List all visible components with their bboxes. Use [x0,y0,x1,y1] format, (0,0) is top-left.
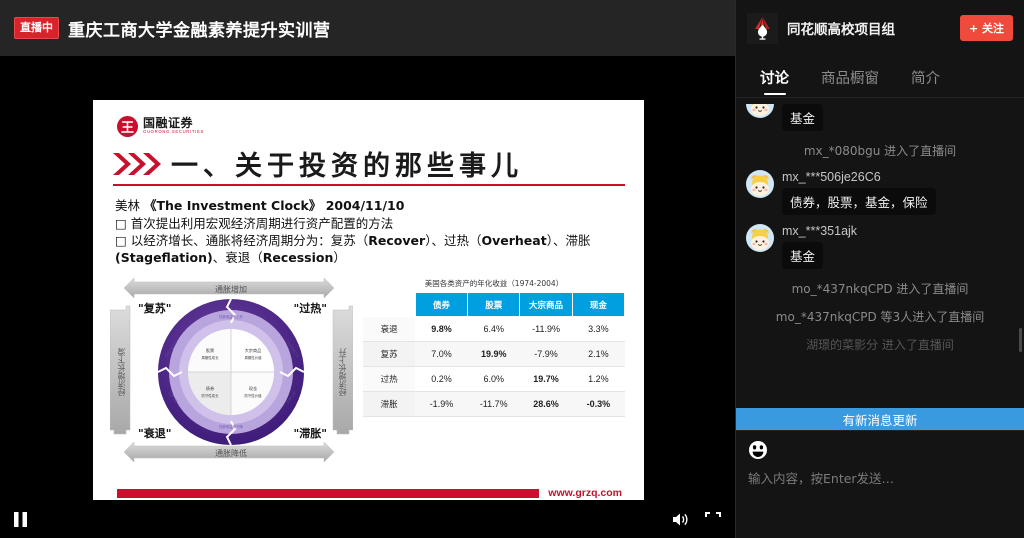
slide-line3-a: □ 以经济增长、通胀将经济周期分为：复苏（ [115,233,368,248]
chat-message: mx_***506je26C6债券，股票，基金，保险 [746,170,1014,215]
live-header: 直播中 重庆工商大学金融素养提升实训营 [0,0,735,56]
avatar[interactable] [746,104,774,118]
slide-line3-c: ）、过热（ [425,233,481,248]
table-row: 过热0.2%6.0%19.7%1.2% [363,367,625,392]
tab-2[interactable]: 简介 [895,67,956,97]
live-stream-page: 直播中 重庆工商大学金融素养提升实训营 王 国融证券 GUORONG SECUR… [0,0,1024,538]
emoji-smile-icon[interactable] [748,440,768,460]
chat-message-nickname: mx_***506je26C6 [782,170,936,184]
chat-panel: 同花顺高校项目组 + 关注 讨论商品橱窗简介 基金mx_*080bgu 进入了直… [735,0,1024,538]
svg-text:债券: 债券 [206,385,215,392]
table-row-label: 衰退 [363,317,415,342]
presentation-slide: 王 国融证券 GUORONG SECURITIES 一、关于投资 [93,100,644,513]
table-row: 滞胀-1.9%-11.7%28.6%-0.3% [363,392,625,417]
slide-line3-recover: Recover [368,233,425,248]
slide-brand-name-cn: 国融证券 [143,118,204,129]
clock-quadrant-recession: "衰退" [138,425,171,441]
th-cash: 现金 [572,293,624,317]
clock-label-growth-down: 经济增长下滑 [111,299,131,445]
svg-text:防守性价值: 防守性价值 [245,393,263,398]
svg-text:大宗商品: 大宗商品 [245,347,262,354]
svg-text:现金: 现金 [249,385,258,392]
chat-message-body: mx_***506je26C6债券，股票，基金，保险 [782,170,936,215]
chat-message-list[interactable]: 基金mx_*080bgu 进入了直播间mx_***506je26C6债券，股票，… [736,98,1024,430]
slide-line-1: 美林 《The Investment Clock》 2004/11/10 [115,197,625,215]
clock-label-inflation-down: 通胀降低 [131,443,331,464]
investment-clock-figure: 债券收益率上升 债券收益率下降 商品价格下跌 商品价格上涨 利率下调 利率上调 … [110,278,353,465]
pause-icon[interactable] [14,512,27,527]
chat-message-nickname: mx_***351ajk [782,224,857,238]
chat-tabs: 讨论商品橱窗简介 [736,56,1024,98]
chat-message-bubble: 基金 [782,242,823,269]
clock-left-text: 经济增长下滑 [116,348,127,396]
slide-line4-c: 、衰退（ [213,250,263,265]
video-panel: 直播中 重庆工商大学金融素养提升实训营 王 国融证券 GUORONG SECUR… [0,0,735,538]
slide-title-row: 一、关于投资的那些事儿 [111,144,523,183]
slide-line3-overheat: Overheat [481,233,546,248]
chat-message-body: 基金 [782,104,823,131]
live-room-title: 重庆工商大学金融素养提升实训营 [68,16,331,41]
svg-text:债券收益率上升: 债券收益率上升 [219,314,243,319]
slide-line-2: □ 首次提出利用宏观经济周期进行资产配置的方法 [115,215,625,233]
table-cell: 3.3% [572,317,624,342]
clock-right-text: 经济增长上升 [337,348,348,396]
asset-table-body: 衰退9.8%6.4%-11.9%3.3%复苏7.0%19.9%-7.9%2.1%… [363,317,625,417]
table-cell: 19.9% [468,342,520,367]
table-row-label: 滞胀 [363,392,415,417]
table-header-row: 债券 股票 大宗商品 现金 [363,293,625,317]
table-row: 复苏7.0%19.9%-7.9%2.1% [363,342,625,367]
system-join-message: mx_*080bgu 进入了直播间 [746,142,1014,159]
table-cell: 2.1% [572,342,624,367]
volume-icon[interactable] [672,512,689,527]
table-cell: -0.3% [572,392,624,417]
table-cell: 0.2% [415,367,467,392]
table-cell: -11.9% [520,317,572,342]
slide-footer: www.grzq.com [117,487,622,499]
asset-returns-table-wrap: 美国各类资产的年化收益（1974-2004） 债券 股票 大宗商品 现金 衰退9 [363,278,625,417]
svg-text:债券收益率下降: 债券收益率下降 [219,424,243,429]
slide-line4-a: 滞胀 [565,233,590,248]
svg-text:防守性成长: 防守性成长 [202,393,220,398]
clock-label-inflation-up: 通胀增加 [131,279,331,300]
clock-quadrant-stagflation: "滞胀" [294,425,327,441]
slide-title-divider [113,184,625,186]
slide-line1-book: 《The Investment Clock》 [144,198,321,213]
slide-line4-recession: Recession [263,250,334,265]
th-bonds: 债券 [415,293,467,317]
player-control-bar [0,500,735,538]
chat-message-body: mx_***351ajk基金 [782,224,857,269]
slide-line4-stageflation: (Stageflation) [115,250,213,265]
th-commodities: 大宗商品 [520,293,572,317]
chat-message: 基金 [746,104,1014,131]
clock-quadrant-recovery: "复苏" [138,300,171,316]
table-cell: -7.9% [520,342,572,367]
table-row-label: 复苏 [363,342,415,367]
chat-message-bubble: 债券，股票，基金，保险 [782,188,936,215]
clock-quadrant-overheat: "过热" [294,300,327,316]
fullscreen-icon[interactable] [705,512,721,526]
new-message-banner[interactable]: 有新消息更新 [736,408,1024,430]
table-cell: 7.0% [415,342,467,367]
player-left-controls [14,512,27,527]
table-cell: 9.8% [415,317,467,342]
video-stage[interactable]: 王 国融证券 GUORONG SECURITIES 一、关于投资 [0,56,735,500]
table-cell: -11.7% [468,392,520,417]
slide-line1-date: 2004/11/10 [321,198,404,213]
slide-body-text: 美林 《The Investment Clock》 2004/11/10 □ 首… [115,197,625,266]
slide-footer-url: www.grzq.com [548,487,622,499]
chat-messages-container: 基金mx_*080bgu 进入了直播间mx_***506je26C6债券，股票，… [746,104,1014,353]
chat-scrollbar-thumb[interactable] [1019,328,1022,352]
live-status-badge: 直播中 [14,17,59,39]
chevrons-right-icon [111,151,163,177]
slide-line4-e: ） [333,250,346,265]
slide-line3-e: ）、 [547,233,566,248]
table-cell: 19.7% [520,367,572,392]
table-row-label: 过热 [363,367,415,392]
system-join-message: 湖璟的菜影分 进入了直播间 [746,336,1014,353]
system-join-message: mo_*437nkqCPD 进入了直播间 [746,280,1014,297]
avatar[interactable] [746,224,774,252]
th-stocks: 股票 [468,293,520,317]
chat-compose-area: 输入内容，按Enter发送… [736,430,1024,538]
tab-1[interactable]: 商品橱窗 [805,67,895,97]
slide-line1-prefix: 美林 [115,198,144,213]
host-avatar-logo-icon[interactable] [747,13,778,44]
slide-brand-logo: 王 国融证券 GUORONG SECURITIES [117,116,204,137]
table-cell: 1.2% [572,367,624,392]
follow-button[interactable]: + 关注 [960,15,1013,41]
table-cell: 6.0% [468,367,520,392]
table-cell: -1.9% [415,392,467,417]
table-cell: 6.4% [468,317,520,342]
chat-message: mx_***351ajk基金 [746,224,1014,269]
table-cell: 28.6% [520,392,572,417]
slide-heading: 一、关于投资的那些事儿 [171,144,523,183]
tab-0[interactable]: 讨论 [744,67,805,97]
table-row: 衰退9.8%6.4%-11.9%3.3% [363,317,625,342]
asset-returns-table: 债券 股票 大宗商品 现金 衰退9.8%6.4%-11.9%3.3%复苏7.0%… [363,292,625,417]
svg-text:周期性成长: 周期性成长 [202,355,220,360]
slide-brand-name-en: GUORONG SECURITIES [143,129,204,135]
slide-line-3: □ 以经济增长、通胀将经济周期分为：复苏（Recover）、过热（Overhea… [115,232,625,266]
th-corner [363,293,415,317]
system-join-message: mo_*437nkqCPD 等3人进入了直播间 [746,308,1014,325]
avatar[interactable] [746,170,774,198]
clock-label-growth-up: 经济增长上升 [332,299,352,445]
player-right-controls [672,512,721,527]
chat-header: 同花顺高校项目组 + 关注 [736,0,1024,56]
svg-text:周期性价值: 周期性价值 [245,355,263,360]
chat-input[interactable]: 输入内容，按Enter发送… [748,468,1012,487]
asset-table-caption: 美国各类资产的年化收益（1974-2004） [363,278,625,289]
guorong-logo-icon: 王 [117,116,138,137]
chat-message-bubble: 基金 [782,104,823,131]
host-name: 同花顺高校项目组 [787,18,960,38]
slide-footer-bar [117,489,539,498]
